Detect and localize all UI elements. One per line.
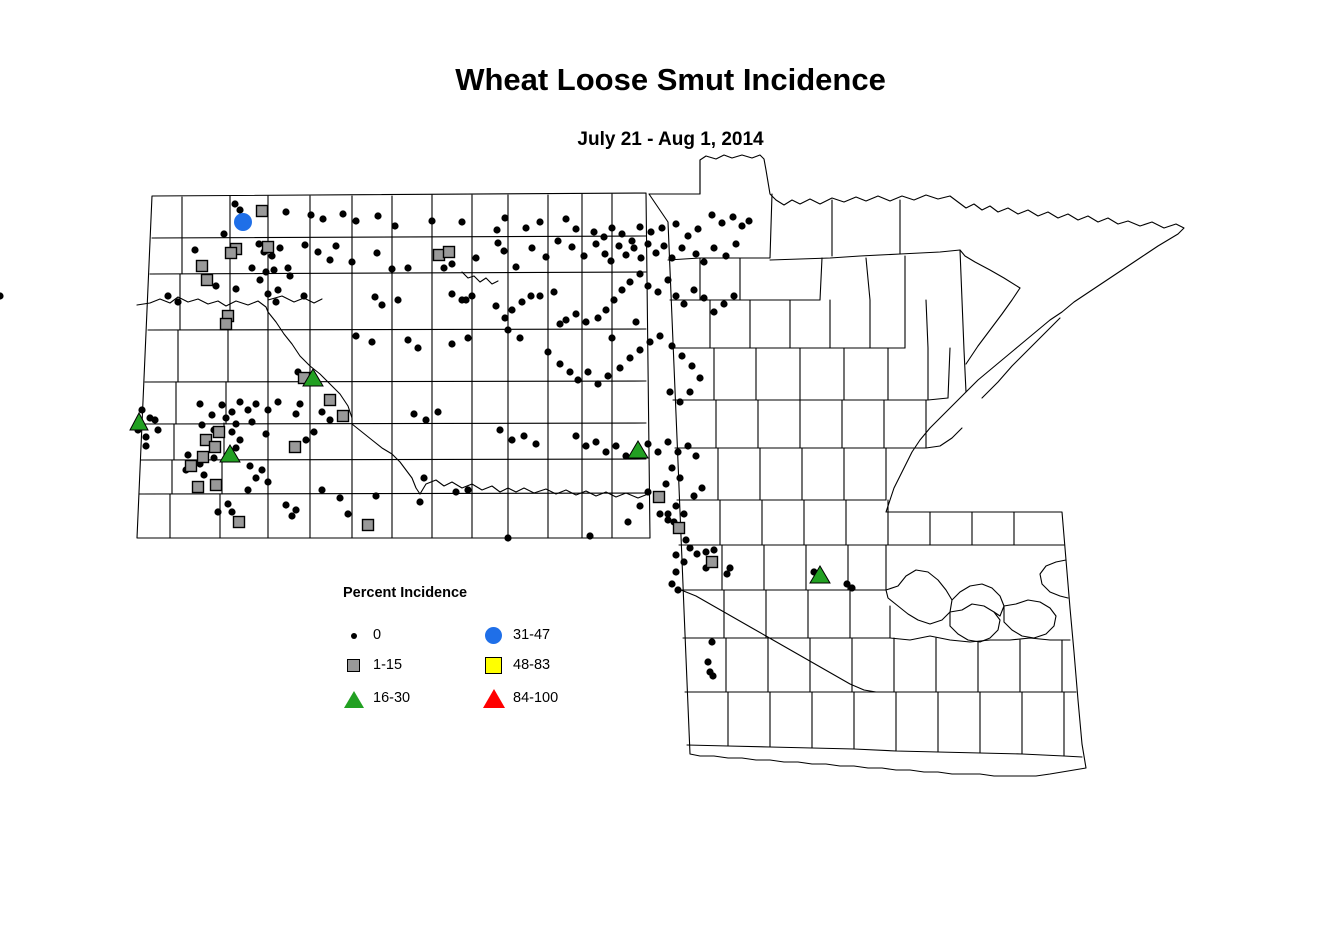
- legend-item-0-label: 0: [373, 627, 381, 643]
- yellow-square-icon: [483, 655, 505, 677]
- legend-item-31-47-label: 31-47: [513, 627, 550, 643]
- small-black-dot-icon: [343, 625, 365, 647]
- legend-title: Percent Incidence: [343, 585, 467, 601]
- data-points-16-30: [130, 369, 830, 583]
- data-points-1-15: [186, 206, 718, 568]
- legend: Percent Incidence 0 1-15 16-30 31-47 48-…: [343, 585, 593, 715]
- blue-circle-icon: [483, 625, 505, 647]
- gray-square-icon: [343, 655, 365, 677]
- red-triangle-icon: [483, 688, 505, 710]
- legend-item-1-15-label: 1-15: [373, 657, 402, 673]
- county-boundaries: [137, 155, 1184, 776]
- data-points-31-47: [234, 213, 252, 231]
- legend-item-48-83-label: 48-83: [513, 657, 550, 673]
- green-triangle-icon: [343, 688, 365, 710]
- legend-item-16-30-label: 16-30: [373, 690, 410, 706]
- legend-item-84-100-label: 84-100: [513, 690, 558, 706]
- wheat-loose-smut-incidence-map: Wheat Loose Smut Incidence July 21 - Aug…: [0, 0, 1341, 926]
- map-canvas: [0, 0, 1341, 926]
